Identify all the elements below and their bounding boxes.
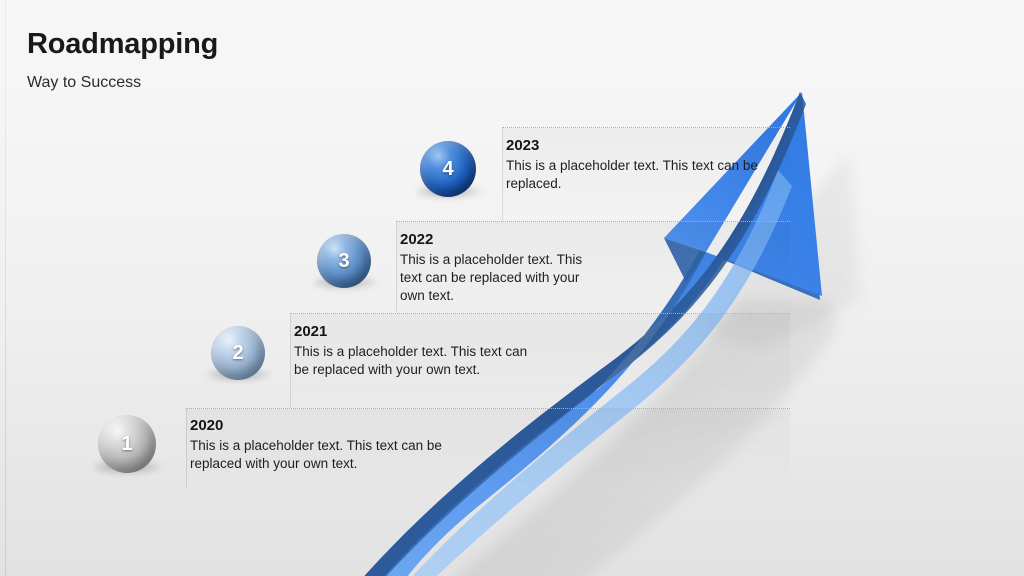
milestone-text-2023: 2023 This is a placeholder text. This te…	[506, 137, 781, 193]
milestone-text-2022: 2022 This is a placeholder text. This te…	[400, 231, 596, 305]
marker-number-3: 3	[317, 234, 371, 288]
milestone-marker-3[interactable]: 3	[317, 234, 371, 288]
slide-canvas: Roadmapping Way to Success	[0, 0, 1024, 576]
milestone-text-2020: 2020 This is a placeholder text. This te…	[190, 417, 456, 473]
milestone-body-2022: This is a placeholder text. This text ca…	[400, 251, 596, 305]
marker-number-2: 2	[211, 326, 265, 380]
milestone-marker-2[interactable]: 2	[211, 326, 265, 380]
milestone-year-2023: 2023	[506, 137, 781, 155]
milestone-marker-1[interactable]: 1	[98, 415, 156, 473]
marker-number-4: 4	[420, 141, 476, 197]
milestone-body-2020: This is a placeholder text. This text ca…	[190, 437, 456, 473]
marker-number-1: 1	[98, 415, 156, 473]
milestone-text-2021: 2021 This is a placeholder text. This te…	[294, 323, 538, 379]
milestone-year-2022: 2022	[400, 231, 596, 249]
page-title: Roadmapping	[27, 28, 218, 61]
milestone-body-2023: This is a placeholder text. This text ca…	[506, 157, 781, 193]
page-subtitle: Way to Success	[27, 74, 141, 92]
milestone-marker-4[interactable]: 4	[420, 141, 476, 197]
milestone-year-2021: 2021	[294, 323, 538, 341]
milestone-body-2021: This is a placeholder text. This text ca…	[294, 343, 538, 379]
left-margin-rule	[5, 0, 6, 576]
milestone-year-2020: 2020	[190, 417, 456, 435]
